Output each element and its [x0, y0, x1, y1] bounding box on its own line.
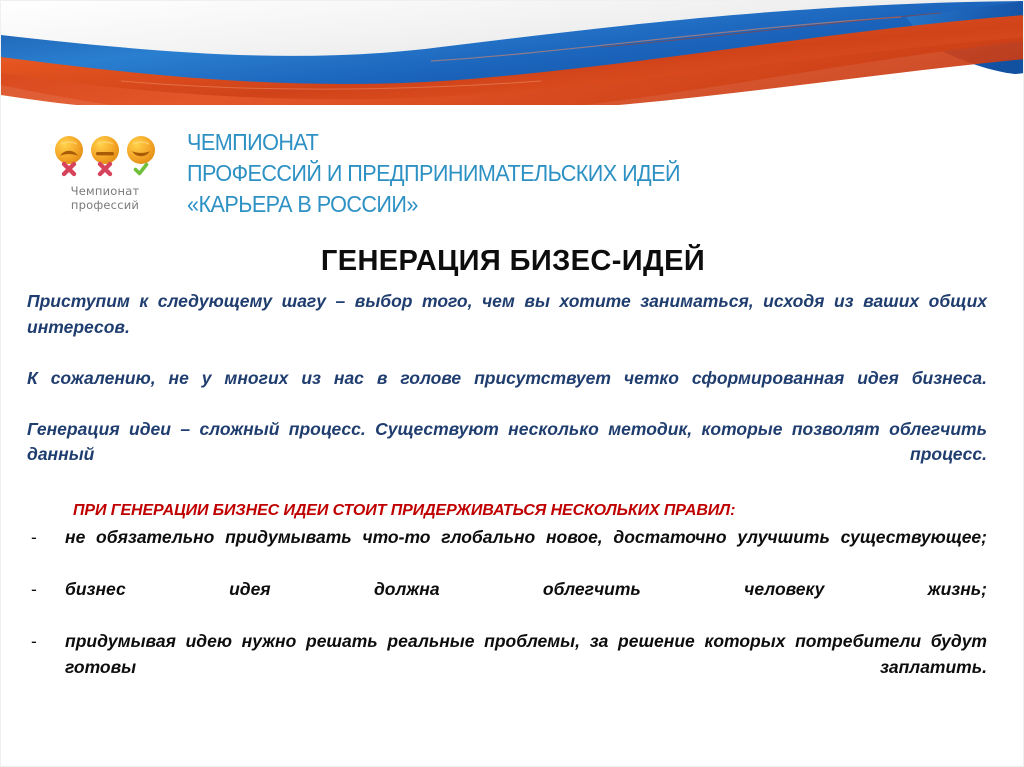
list-item-text: придумывая идею нужно решать реальные пр…: [65, 629, 987, 706]
championship-logo: Чемпионат профессий: [49, 135, 161, 212]
logo-face-sad: [53, 135, 85, 179]
event-title-line-2: ПРОФЕССИЙ И ПРЕДПРИНИМАТЕЛЬСКИХ ИДЕЙ: [187, 158, 680, 189]
slide-title: ГЕНЕРАЦИЯ БИЗЕС-ИДЕЙ: [1, 244, 1024, 278]
logo-caption-line1: Чемпионат: [49, 184, 161, 198]
logo-caption: Чемпионат профессий: [49, 184, 161, 212]
body-paragraph: К сожалению, не у многих из нас в голове…: [27, 366, 987, 417]
logo-face-happy: [125, 135, 157, 179]
bullet-dash: -: [27, 525, 65, 551]
list-item-text: не обязательно придумывать что-то глобал…: [65, 525, 987, 576]
list-item-text: бизнес идея должна облегчить человеку жи…: [65, 577, 987, 628]
logo-faces: [49, 135, 161, 179]
presentation-slide: Чемпионат профессий ЧЕМПИОНАТ ПРОФЕССИЙ …: [0, 0, 1024, 767]
check-mark-icon: [133, 161, 149, 177]
russian-flag-banner: [1, 1, 1024, 105]
event-title: ЧЕМПИОНАТ ПРОФЕССИЙ И ПРЕДПРИНИМАТЕЛЬСКИ…: [187, 127, 680, 220]
event-title-line-1: ЧЕМПИОНАТ: [187, 127, 680, 158]
cross-mark-icon: [61, 161, 77, 177]
slide-body: Приступим к следующему шагу – выбор того…: [27, 289, 987, 707]
list-item: - не обязательно придумывать что-то глоб…: [27, 525, 987, 576]
logo-caption-line2: профессий: [49, 198, 161, 212]
list-item: - придумывая идею нужно решать реальные …: [27, 629, 987, 706]
rules-heading: ПРИ ГЕНЕРАЦИИ БИЗНЕС ИДЕИ СТОИТ ПРИДЕРЖИ…: [27, 499, 987, 523]
list-item: - бизнес идея должна облегчить человеку …: [27, 577, 987, 628]
slide-header: Чемпионат профессий ЧЕМПИОНАТ ПРОФЕССИЙ …: [1, 127, 1024, 231]
bullet-dash: -: [27, 577, 65, 603]
logo-face-neutral: [89, 135, 121, 179]
event-title-line-3: «КАРЬЕРА В РОССИИ»: [187, 189, 680, 220]
cross-mark-icon: [97, 161, 113, 177]
body-paragraph: Приступим к следующему шагу – выбор того…: [27, 289, 987, 366]
rules-list: - не обязательно придумывать что-то глоб…: [27, 525, 987, 706]
body-paragraph: Генерация идеи – сложный процесс. Сущест…: [27, 417, 987, 494]
bullet-dash: -: [27, 629, 65, 655]
